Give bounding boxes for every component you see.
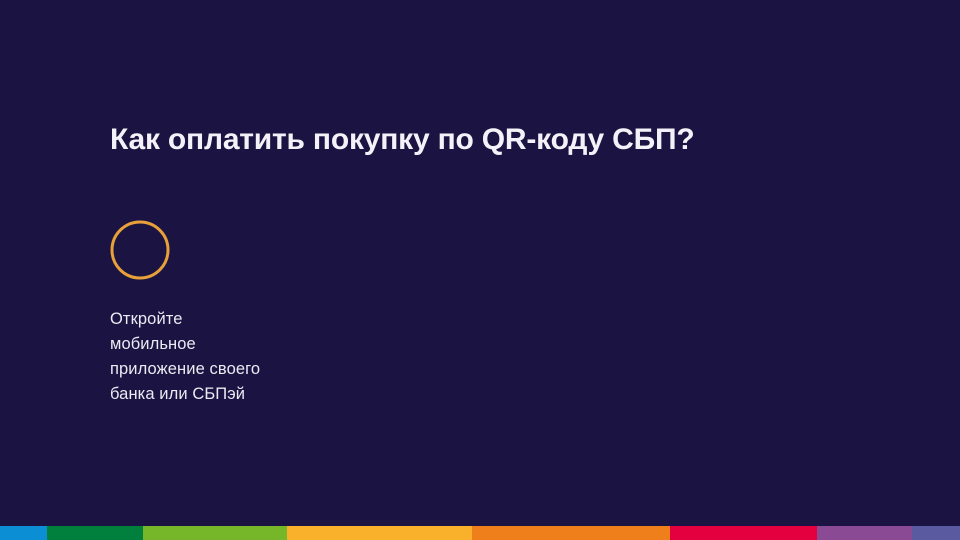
accent-bar (0, 526, 960, 540)
circle-outline-icon (110, 220, 170, 280)
accent-segment (670, 526, 817, 540)
accent-segment (472, 526, 670, 540)
accent-segment (47, 526, 143, 540)
page-title: Как оплатить покупку по QR-коду СБП? (110, 122, 694, 158)
step-caption: Откройте мобильное приложение своего бан… (110, 307, 370, 407)
step-block: Откройте мобильное приложение своего бан… (110, 220, 370, 407)
accent-segment (287, 526, 472, 540)
accent-segment (817, 526, 912, 540)
accent-segment (0, 526, 47, 540)
accent-segment (912, 526, 960, 540)
accent-segment (143, 526, 287, 540)
slide-canvas: Как оплатить покупку по QR-коду СБП? Отк… (0, 0, 960, 540)
